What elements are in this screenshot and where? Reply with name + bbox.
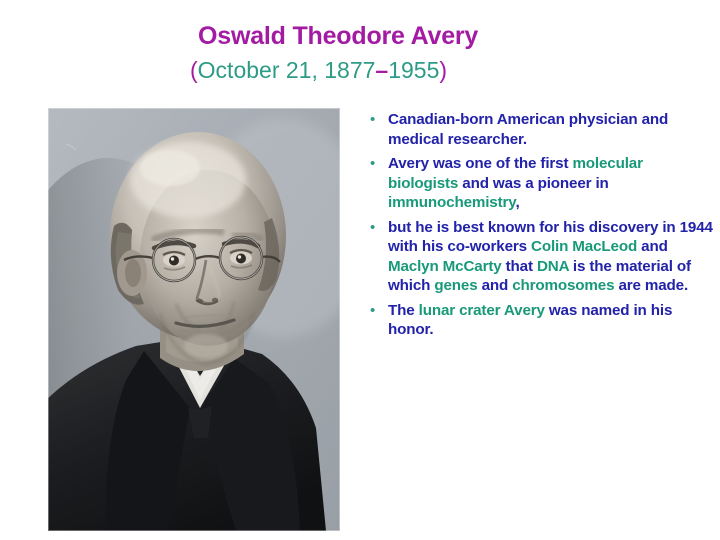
slide-canvas: Oswald Theodore Avery (October 21, 1877–… bbox=[0, 0, 720, 540]
body-text: Canadian-born American physician and med… bbox=[388, 111, 668, 148]
body-text: , bbox=[515, 194, 519, 211]
page-title: Oswald Theodore Avery bbox=[198, 22, 710, 51]
subtitle-close-paren: ) bbox=[439, 57, 447, 83]
highlighted-term: genes bbox=[434, 277, 477, 294]
subtitle-dash: – bbox=[375, 57, 388, 83]
bullet-point-icon: • bbox=[366, 218, 388, 238]
list-item: •The lunar crater Avery was named in his… bbox=[366, 301, 714, 340]
list-item-text: Avery was one of the first molecular bio… bbox=[388, 154, 714, 213]
list-item-text: Canadian-born American physician and med… bbox=[388, 110, 714, 149]
body-text: and bbox=[478, 277, 513, 294]
highlighted-term: DNA bbox=[537, 258, 569, 275]
list-item: •but he is best known for his discovery … bbox=[366, 218, 714, 296]
bullet-point-icon: • bbox=[366, 301, 388, 321]
bullet-point-icon: • bbox=[366, 154, 388, 174]
body-text: and was a pioneer in bbox=[458, 175, 608, 192]
portrait-photo bbox=[48, 108, 340, 531]
list-item: •Avery was one of the first molecular bi… bbox=[366, 154, 714, 213]
highlighted-term: chromosomes bbox=[512, 277, 614, 294]
body-text: are made. bbox=[614, 277, 688, 294]
highlighted-term: immunochemistry bbox=[388, 194, 515, 211]
list-item: •Canadian-born American physician and me… bbox=[366, 110, 714, 149]
slide-subtitle: (October 21, 1877–1955) bbox=[190, 57, 710, 83]
subtitle-death-year: 1955 bbox=[388, 57, 439, 83]
highlighted-term: lunar crater Avery bbox=[419, 302, 545, 319]
list-item-text: but he is best known for his discovery i… bbox=[388, 218, 714, 296]
bullet-point-icon: • bbox=[366, 110, 388, 130]
body-text: Avery was one of the first bbox=[388, 155, 572, 172]
title-block: Oswald Theodore Avery (October 21, 1877–… bbox=[150, 22, 710, 83]
highlighted-term: Maclyn McCarty bbox=[388, 258, 502, 275]
subtitle-birth-date: October 21, 1877 bbox=[198, 57, 376, 83]
list-item-text: The lunar crater Avery was named in his … bbox=[388, 301, 714, 340]
body-text: that bbox=[502, 258, 537, 275]
subtitle-open-paren: ( bbox=[190, 57, 198, 83]
bullet-list: •Canadian-born American physician and me… bbox=[366, 110, 714, 345]
highlighted-term: Colin MacLeod bbox=[531, 238, 637, 255]
portrait-image bbox=[48, 108, 340, 531]
body-text: and bbox=[637, 238, 668, 255]
body-text: The bbox=[388, 302, 419, 319]
